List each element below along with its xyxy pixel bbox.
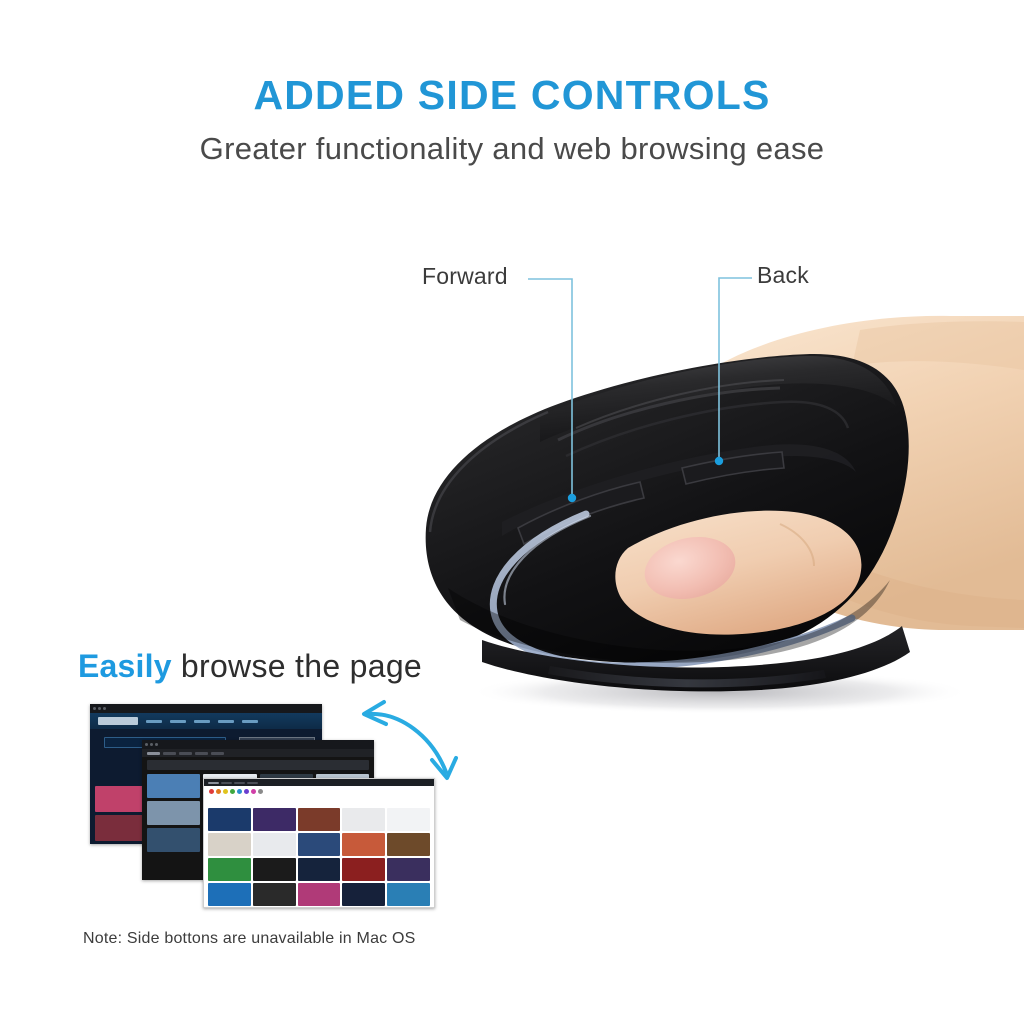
- callout-label-forward: Forward: [422, 263, 508, 290]
- thumbnail-tile: [387, 858, 430, 881]
- thumbnail-tile: [253, 858, 296, 881]
- thumbnail-tile: [253, 833, 296, 856]
- thumbnail-tile: [298, 808, 341, 831]
- thumbnail-tile: [147, 828, 200, 852]
- callout-label-back: Back: [757, 262, 809, 289]
- thumbnail-tile: [342, 808, 385, 831]
- thumbnail-tile: [298, 858, 341, 881]
- window-chrome-back: [90, 704, 322, 713]
- color-swatch: [244, 789, 249, 794]
- nav-link: [170, 720, 186, 723]
- toolbar-item: [247, 782, 258, 784]
- footnote-note: Note: Side bottons are unavailable in Ma…: [83, 930, 416, 948]
- toolbar-item: [211, 752, 224, 755]
- page-title: ADDED SIDE CONTROLS: [0, 72, 1024, 119]
- window-dot: [98, 707, 101, 710]
- site-logo: [98, 717, 138, 725]
- toolbar-item: [221, 782, 232, 784]
- easily-emphasis: Easily: [78, 648, 172, 684]
- thumbnail-tile: [253, 808, 296, 831]
- nav-link: [242, 720, 258, 723]
- site-navbar: [90, 713, 322, 729]
- color-swatch: [223, 789, 228, 794]
- window-dot: [150, 743, 153, 746]
- thumbnail-tile: [95, 786, 148, 812]
- thumbnail-tile: [298, 833, 341, 856]
- thumbnail-tile: [95, 815, 148, 841]
- thumbnail-tile: [147, 774, 200, 798]
- page-subtitle: Greater functionality and web browsing e…: [0, 131, 1024, 167]
- thumbnail-tile: [387, 883, 430, 906]
- window-dot: [145, 743, 148, 746]
- thumbnail-tile: [208, 833, 251, 856]
- color-swatch: [216, 789, 221, 794]
- thumbnail-tile: [342, 833, 385, 856]
- thumbnail-tile: [387, 833, 430, 856]
- toolbar-item: [208, 782, 219, 784]
- easily-rest: browse the page: [172, 648, 422, 684]
- window-dot: [155, 743, 158, 746]
- thumbnail-tile: [387, 808, 430, 831]
- thumbnail-tile: [253, 883, 296, 906]
- color-swatch: [230, 789, 235, 794]
- product-photo: [390, 300, 1024, 730]
- toolbar-item: [234, 782, 245, 784]
- thumbnail-tile: [342, 858, 385, 881]
- toolbar-item: [147, 752, 160, 755]
- color-swatch: [237, 789, 242, 794]
- color-swatch: [258, 789, 263, 794]
- thumbnail-tile: [208, 883, 251, 906]
- nav-link: [146, 720, 162, 723]
- gallery-banner: [147, 760, 369, 770]
- thumbnail-tile: [208, 808, 251, 831]
- easily-browse-heading: Easily browse the page: [78, 648, 422, 685]
- color-swatch: [209, 789, 214, 794]
- window-dot: [103, 707, 106, 710]
- toolbar-item: [179, 752, 192, 755]
- color-swatch: [251, 789, 256, 794]
- product-marketing-image: ADDED SIDE CONTROLS Greater functionalit…: [0, 0, 1024, 1024]
- thumbnail-tile: [298, 883, 341, 906]
- thumbnail-grid-front: [208, 808, 430, 902]
- nav-link: [194, 720, 210, 723]
- window-dot: [93, 707, 96, 710]
- thumbnail-tile: [342, 883, 385, 906]
- thumbnail-tile: [147, 801, 200, 825]
- curved-arrow: [340, 686, 470, 806]
- thumbnail-tile: [208, 858, 251, 881]
- nav-link: [218, 720, 234, 723]
- toolbar-item: [195, 752, 208, 755]
- toolbar-item: [163, 752, 176, 755]
